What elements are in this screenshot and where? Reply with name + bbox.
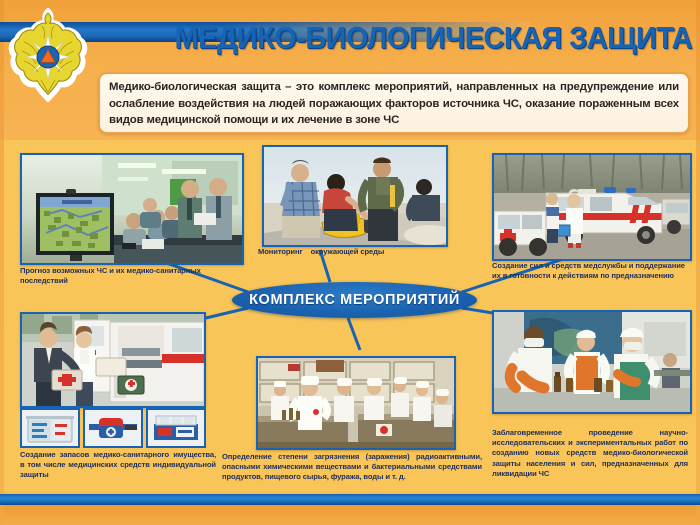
center-node-label: КОМПЛЕКС МЕРОПРИЯТИЙ: [249, 292, 460, 308]
poster-root: МЕДИКО-БИОЛОГИЧЕСКАЯ ЗАЩИТА Медико-биоло…: [0, 0, 700, 525]
photo-laboratory-inspection-benches: [256, 356, 456, 450]
caption-contamination: Определение степени загрязнения (заражен…: [222, 452, 482, 483]
center-node-complex-of-measures: КОМПЛЕКС МЕРОПРИЯТИЙ: [232, 282, 477, 318]
photo-environmental-monitoring-boat: [262, 145, 448, 247]
page-title: МЕДИКО-БИОЛОГИЧЕСКАЯ ЗАЩИТА: [272, 14, 692, 62]
thumbnail-medical-kit-case: [20, 408, 80, 448]
caption-monitoring: Мониторинг окружающей среды: [258, 247, 458, 257]
caption-research: Заблаговременное проведение научно-иссле…: [492, 428, 688, 479]
photo-ambulance-fleet-medics: [492, 153, 692, 261]
intro-definition-box: Медико-биологическая защита – это компле…: [98, 72, 690, 134]
thumbnail-open-emergency-bag: [146, 408, 206, 448]
caption-stockpile: Создание запасов медико-санитарного имущ…: [20, 450, 216, 481]
intro-definition-text: Медико-биологическая защита – это компле…: [109, 79, 679, 129]
thumbnail-first-aid-belt-pouch: [83, 408, 143, 448]
emercom-russia-emblem: [8, 8, 88, 104]
photo-situation-center-map-display: [20, 153, 244, 265]
bottom-blue-bar: [0, 494, 700, 505]
photo-researchers-protective-gear-lab: [492, 310, 692, 414]
diagram-area: Прогноз возможных ЧС и их медико-санитар…: [0, 140, 700, 500]
caption-forces: Создание сил и средств медслужбы и подде…: [492, 261, 688, 281]
caption-forecast: Прогноз возможных ЧС и их медико-санитар…: [20, 266, 226, 286]
photo-medical-kits-loading-ambulance: [20, 312, 206, 408]
